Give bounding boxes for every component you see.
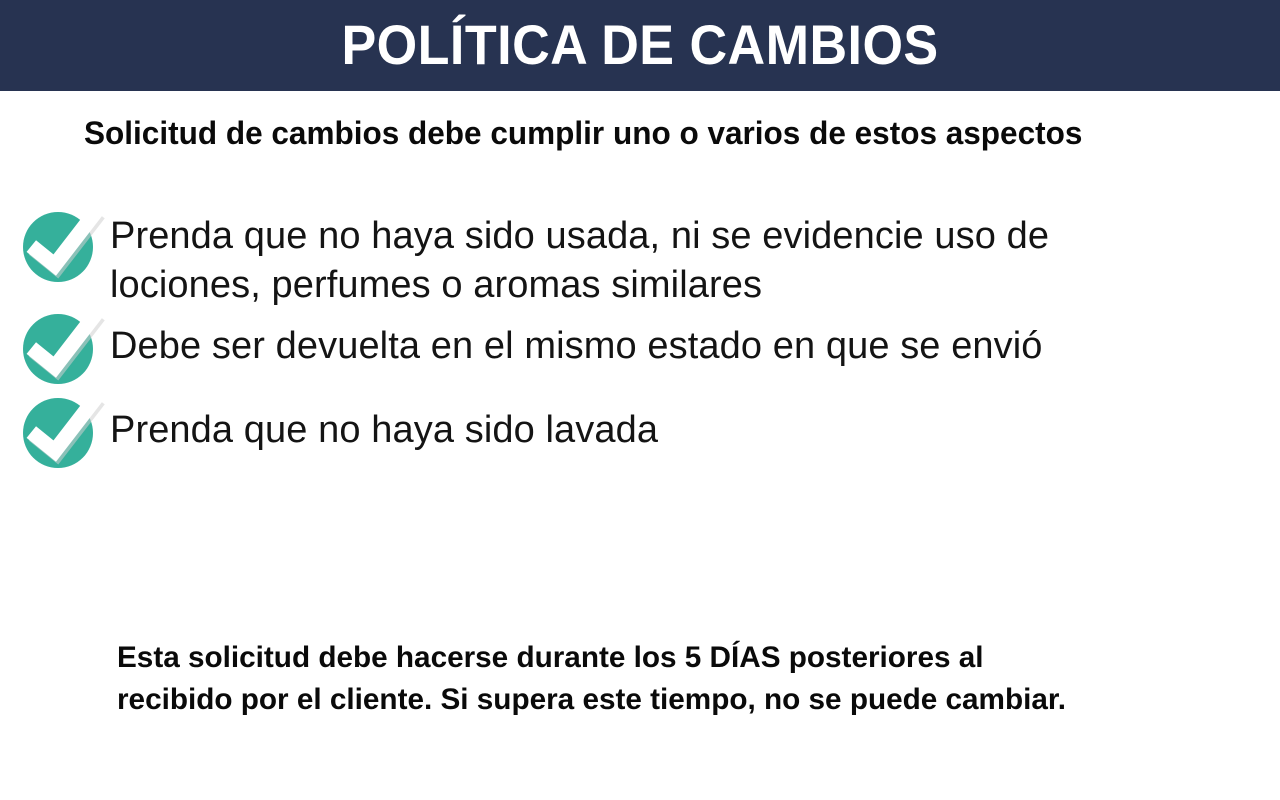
footer-note: Esta solicitud debe hacerse durante los …	[117, 637, 1236, 721]
check-mark-icon	[21, 208, 107, 288]
checklist: Prenda que no haya sido usada, ni se evi…	[0, 210, 1280, 474]
check-mark-icon	[21, 394, 107, 474]
check-circle-icon	[23, 398, 95, 470]
check-circle-icon	[23, 212, 95, 284]
list-item: Debe ser devuelta en el mismo estado en …	[0, 312, 1280, 386]
list-item-label: Prenda que no haya sido usada, ni se evi…	[110, 212, 1170, 310]
list-item-label: Prenda que no haya sido lavada	[110, 406, 658, 455]
subtitle-text: Solicitud de cambios debe cumplir uno o …	[84, 111, 1227, 155]
list-item: Prenda que no haya sido usada, ni se evi…	[0, 210, 1280, 310]
check-circle-icon	[23, 314, 95, 386]
header-banner: POLÍTICA DE CAMBIOS	[0, 0, 1280, 91]
list-item: Prenda que no haya sido lavada	[0, 396, 1280, 470]
check-mark-icon	[21, 310, 107, 390]
page-title: POLÍTICA DE CAMBIOS	[341, 17, 938, 73]
policy-slide: POLÍTICA DE CAMBIOS Solicitud de cambios…	[0, 0, 1280, 800]
list-item-label: Debe ser devuelta en el mismo estado en …	[110, 322, 1043, 371]
footer-note-line-2: recibido por el cliente. Si supera este …	[117, 679, 1236, 721]
footer-note-line-1: Esta solicitud debe hacerse durante los …	[117, 637, 1236, 679]
